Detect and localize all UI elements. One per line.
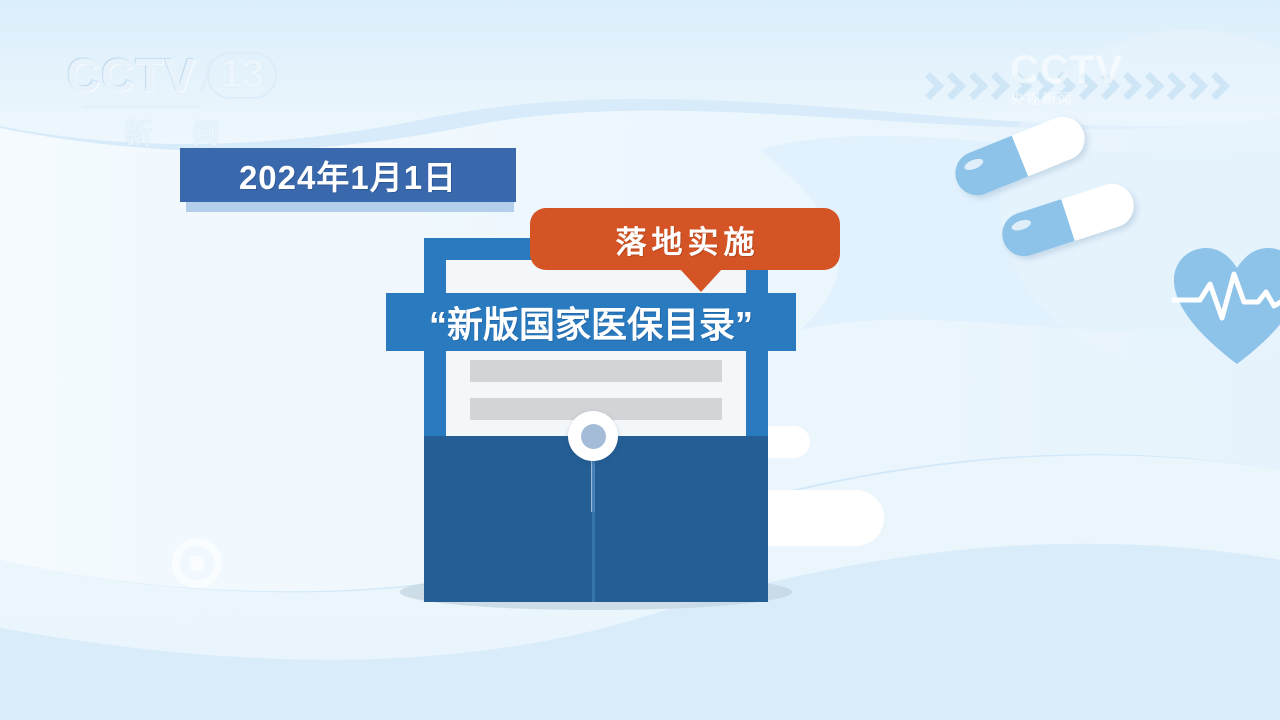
status-badge-text: 落地实施 xyxy=(611,217,760,262)
briefcase-front-panel xyxy=(424,436,768,602)
date-banner-text: 2024年1月1日 xyxy=(239,151,457,199)
headline-bar: “新版国家医保目录” xyxy=(386,293,796,351)
document-text-line xyxy=(470,360,722,382)
status-badge-tail xyxy=(679,268,723,292)
date-banner: 2024年1月1日 xyxy=(180,148,516,202)
headline-text: “新版国家医保目录” xyxy=(429,296,753,348)
briefcase-clasp-center xyxy=(581,424,606,449)
status-badge: 落地实施 xyxy=(530,208,840,270)
briefcase-clasp-icon xyxy=(568,411,618,461)
broadcast-graphic-frame: CCTV / 13 新 闻 CCTV 央视新闻 ⊙ 焦点访谈 xyxy=(0,0,1280,720)
